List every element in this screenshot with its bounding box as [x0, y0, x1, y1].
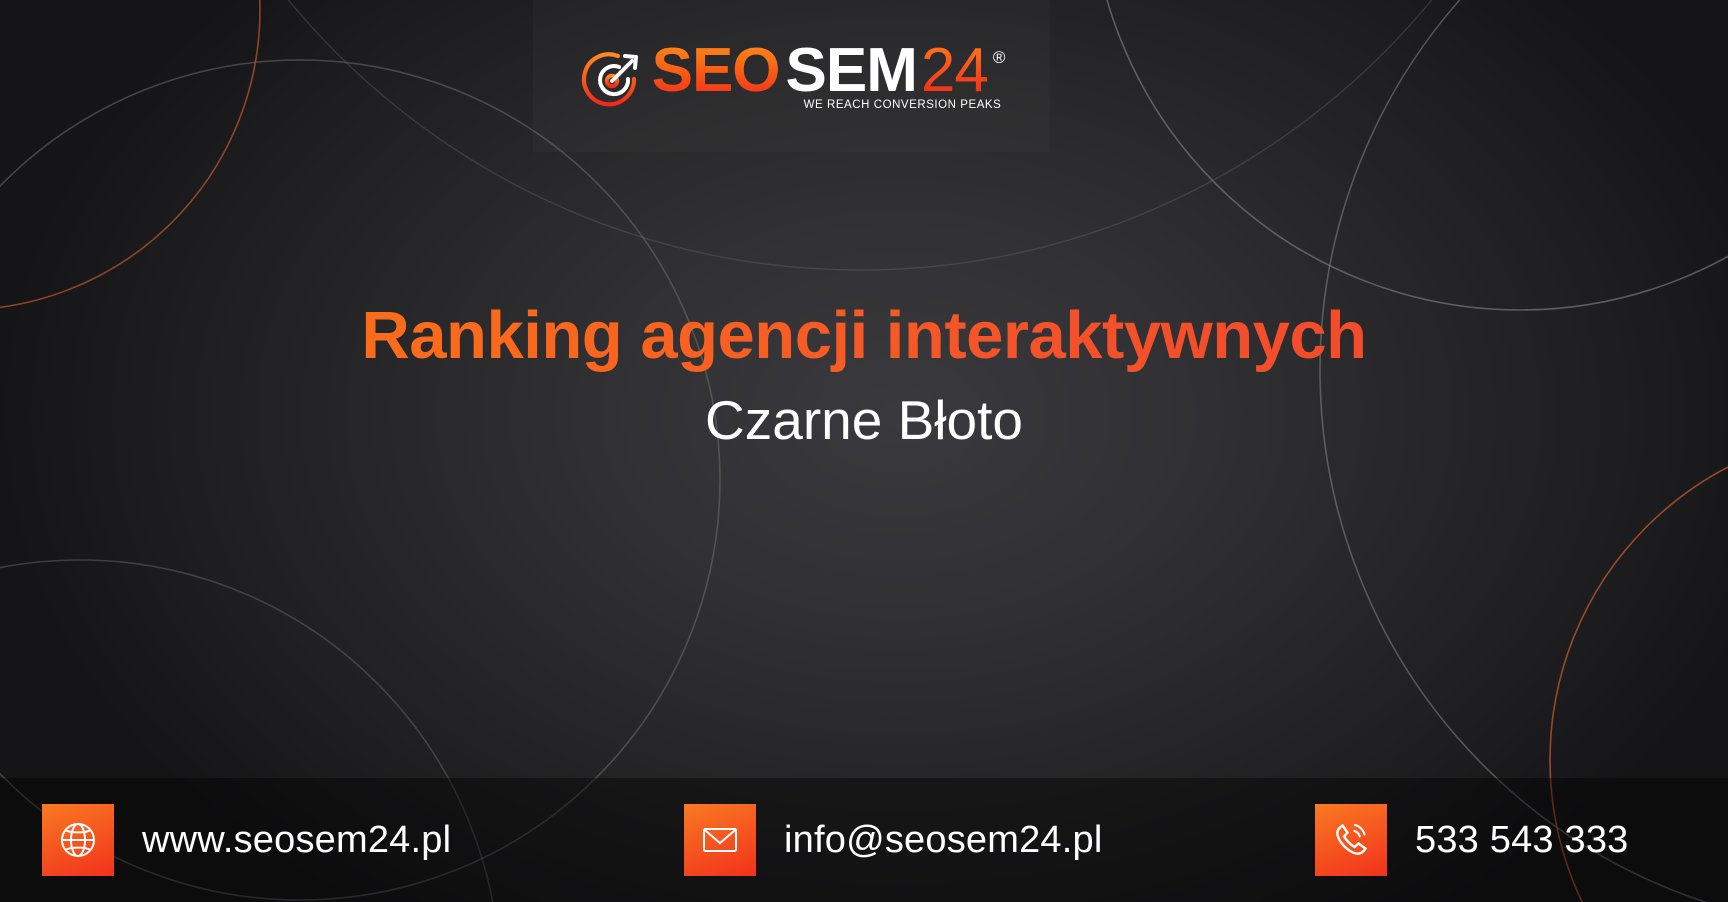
logo-text-seo: SEO [652, 40, 780, 102]
target-arrow-icon [578, 46, 644, 112]
contact-email[interactable]: info@seosem24.pl [684, 804, 1103, 876]
globe-icon [42, 804, 114, 876]
email-label: info@seosem24.pl [784, 819, 1103, 862]
decor-circle-grey-right [1320, 0, 1728, 902]
page-title: Ranking agencji interaktywnych [0, 300, 1728, 372]
logo-tagline: WE REACH CONVERSION PEAKS [804, 99, 1006, 111]
contact-website[interactable]: www.seosem24.pl [42, 804, 451, 876]
decor-circle-grey-left [0, 60, 720, 900]
logo-text-24: 24 [921, 40, 988, 102]
decor-circle-orange-topleft [0, 0, 260, 310]
phone-label: 533 543 333 [1415, 819, 1629, 862]
contact-footer-bar: www.seosem24.pl info@seosem24.pl 533 543… [0, 778, 1728, 902]
logo-text-sem: SEM [786, 40, 917, 102]
decor-circle-grey-topright [1090, 0, 1728, 310]
slide-canvas: SEO SEM 24 ® WE REACH CONVERSION PEAKS R… [0, 0, 1728, 902]
logo-panel: SEO SEM 24 ® WE REACH CONVERSION PEAKS [533, 0, 1050, 152]
envelope-icon [684, 804, 756, 876]
registered-mark-icon: ® [993, 48, 1006, 68]
hero-text-block: Ranking agencji interaktywnych Czarne Bł… [0, 300, 1728, 451]
contact-phone[interactable]: 533 543 333 [1315, 804, 1629, 876]
page-subtitle: Czarne Błoto [0, 390, 1728, 451]
brand-logo[interactable]: SEO SEM 24 ® WE REACH CONVERSION PEAKS [578, 40, 1006, 112]
phone-ring-icon [1315, 804, 1387, 876]
website-label: www.seosem24.pl [142, 819, 451, 862]
